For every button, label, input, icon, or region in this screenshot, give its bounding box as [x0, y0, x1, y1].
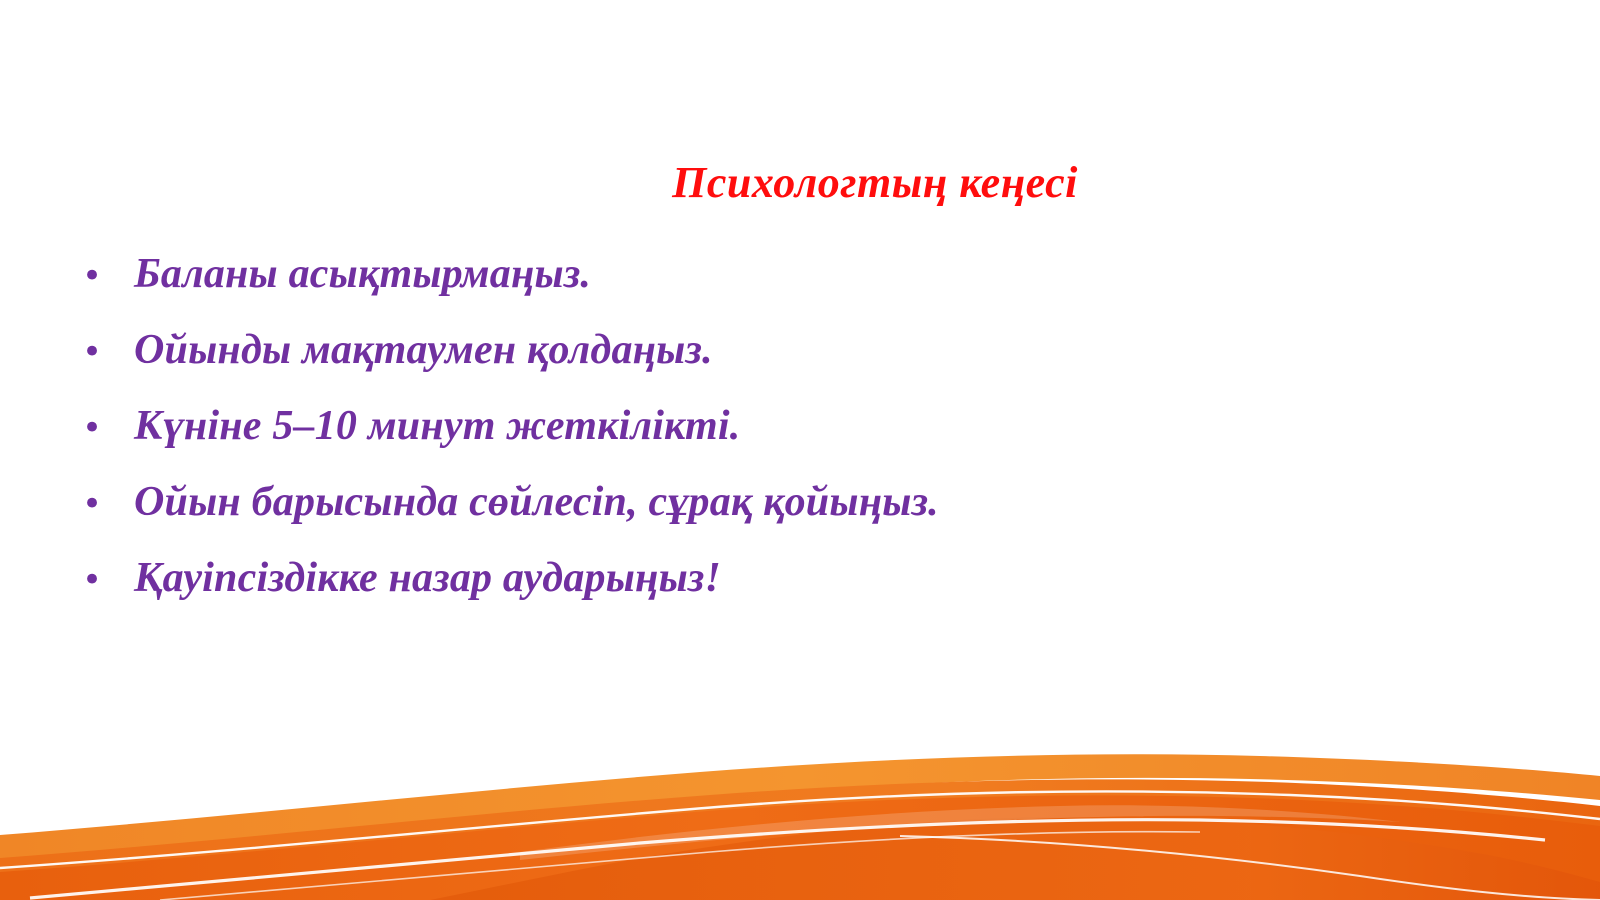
wave-band-pale: [0, 754, 1600, 860]
page-title: Психологтың кеңесі: [0, 160, 1600, 206]
bullet-dot-icon: •: [82, 542, 134, 618]
wave-highlight-tail: [900, 836, 1600, 900]
bullet-dot-icon: •: [82, 238, 134, 314]
wave-sheen: [520, 805, 1400, 860]
wave-highlight-upper: [0, 791, 1600, 868]
list-item: • Баланы асықтырмаңыз.: [82, 236, 1482, 312]
bullet-dot-icon: •: [82, 466, 134, 542]
list-item: • Ойынды мақтаумен қолдаңыз.: [82, 312, 1482, 388]
wave-highlight-lower: [160, 832, 1200, 900]
bullet-dot-icon: •: [82, 390, 134, 466]
list-item: • Күніне 5–10 минут жеткілікті.: [82, 388, 1482, 464]
orange-wave-decoration: [0, 740, 1600, 900]
list-item-label: Баланы асықтырмаңыз.: [134, 236, 1482, 312]
wave-band-deep: [430, 817, 1600, 900]
list-item: • Ойын барысында сөйлесіп, сұрақ қойыңыз…: [82, 464, 1482, 540]
orange-wave-graphic: [0, 740, 1600, 900]
list-item-label: Ойын барысында сөйлесіп, сұрақ қойыңыз.: [134, 464, 1482, 540]
list-item: • Қауіпсіздікке назар аударыңыз!: [82, 540, 1482, 616]
bullet-dot-icon: •: [82, 314, 134, 390]
advice-bullet-list: • Баланы асықтырмаңыз. • Ойынды мақтауме…: [82, 236, 1482, 616]
wave-band-mid: [0, 779, 1600, 900]
list-item-label: Ойынды мақтаумен қолдаңыз.: [134, 312, 1482, 388]
wave-highlight-mid: [30, 820, 1545, 898]
list-item-label: Қауіпсіздікке назар аударыңыз!: [134, 540, 1482, 616]
slide-canvas: Психологтың кеңесі • Баланы асықтырмаңыз…: [0, 0, 1600, 900]
wave-band-main: [0, 795, 1600, 900]
list-item-label: Күніне 5–10 минут жеткілікті.: [134, 388, 1482, 464]
